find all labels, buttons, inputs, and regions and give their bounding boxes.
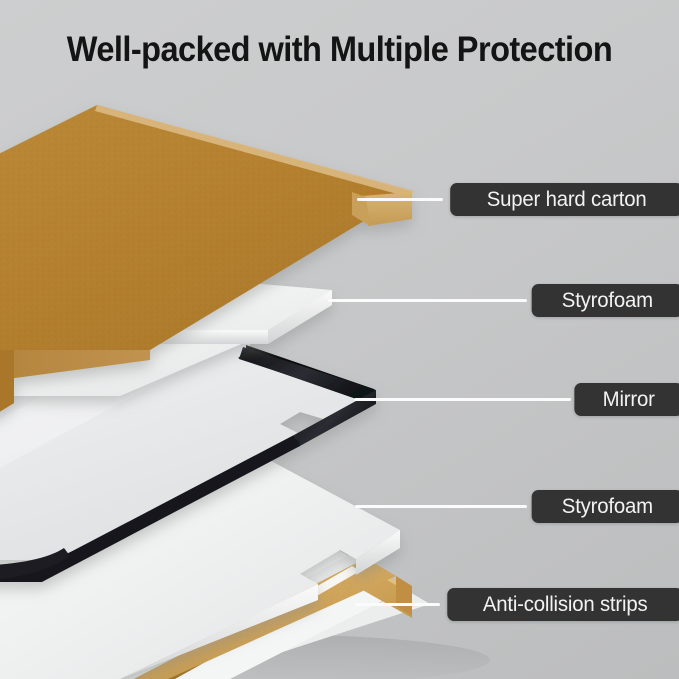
callout-mirror[interactable]: Mirror	[574, 383, 679, 416]
leader-line-styrofoam-bottom	[355, 505, 527, 508]
leader-line-anti-collision-strips	[355, 603, 440, 606]
illustration-canvas: Well-packed with Multiple Protection	[0, 0, 679, 679]
callout-label-super-hard-carton: Super hard carton	[487, 189, 647, 210]
callout-anti-collision-strips[interactable]: Anti-collision strips	[447, 588, 679, 621]
callout-super-hard-carton[interactable]: Super hard carton	[450, 183, 679, 216]
callout-label-mirror: Mirror	[603, 389, 655, 410]
leader-line-super-hard-carton	[357, 198, 443, 201]
callout-label-anti-collision-strips: Anti-collision strips	[483, 594, 648, 615]
leader-line-mirror	[354, 398, 571, 401]
callout-label-styrofoam-bottom: Styrofoam	[562, 496, 653, 517]
packaging-exploded-view	[0, 0, 679, 679]
callout-styrofoam-top[interactable]: Styrofoam	[532, 284, 679, 317]
callout-styrofoam-bottom[interactable]: Styrofoam	[532, 490, 679, 523]
leader-line-styrofoam-top	[328, 299, 527, 302]
callout-label-styrofoam-top: Styrofoam	[562, 290, 653, 311]
